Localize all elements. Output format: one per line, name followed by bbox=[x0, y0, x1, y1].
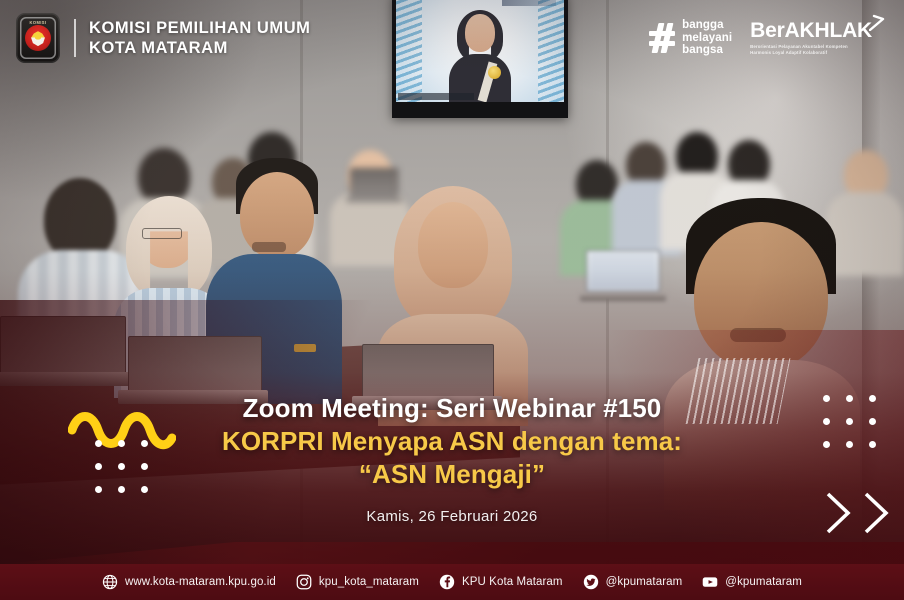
footer-item-instagram[interactable]: kpu_kota_mataram bbox=[296, 574, 419, 590]
header-title-line1: KOMISI PEMILIHAN UMUM bbox=[89, 18, 310, 38]
berakhlak-tagline: Berorientasi Pelayanan Akuntabel Kompete… bbox=[750, 44, 862, 56]
header-brand: KOMISI KOMISI PEMILIHAN UMUM KOTA MATARA… bbox=[16, 13, 310, 63]
berakhlak-wordmark: BerAKHLAK bbox=[750, 20, 872, 41]
swoosh-icon bbox=[869, 13, 885, 31]
hashtag-icon bbox=[649, 23, 675, 53]
logo-disc bbox=[25, 25, 51, 51]
footer-label-twitter: @kpumataram bbox=[606, 576, 683, 588]
title-line-2: KORPRI Menyapa ASN dengan tema: bbox=[90, 425, 814, 458]
twitter-icon bbox=[583, 574, 599, 590]
event-title-block: Zoom Meeting: Seri Webinar #150 KORPRI M… bbox=[0, 392, 904, 490]
footer-label-instagram: kpu_kota_mataram bbox=[319, 576, 419, 588]
facebook-icon bbox=[439, 574, 455, 590]
footer-label-youtube: @kpumataram bbox=[725, 576, 802, 588]
bangga-line3: bangsa bbox=[682, 44, 732, 57]
poster-header: KOMISI KOMISI PEMILIHAN UMUM KOTA MATARA… bbox=[0, 0, 904, 76]
youtube-icon bbox=[702, 574, 718, 590]
footer-item-website[interactable]: www.kota-mataram.kpu.go.id bbox=[102, 574, 276, 590]
footer-label-facebook: KPU Kota Mataram bbox=[462, 576, 563, 588]
footer-bar: www.kota-mataram.kpu.go.id kpu_kota_mata… bbox=[0, 564, 904, 600]
footer-label-website: www.kota-mataram.kpu.go.id bbox=[125, 576, 276, 588]
bangga-text: bangga melayani bangsa bbox=[682, 19, 732, 58]
footer-item-facebook[interactable]: KPU Kota Mataram bbox=[439, 574, 563, 590]
instagram-icon bbox=[296, 574, 312, 590]
header-logos: bangga melayani bangsa BerAKHLAK Berorie… bbox=[649, 19, 888, 58]
kpu-logo-icon: KOMISI bbox=[16, 13, 60, 63]
globe-icon bbox=[102, 574, 118, 590]
poster-canvas: KOMISI KOMISI PEMILIHAN UMUM KOTA MATARA… bbox=[0, 0, 904, 600]
title-line-3: “ASN Mengaji” bbox=[90, 458, 814, 491]
footer-item-twitter[interactable]: @kpumataram bbox=[583, 574, 683, 590]
bangga-line2: melayani bbox=[682, 32, 732, 45]
berakhlak-logo: BerAKHLAK Berorientasi Pelayanan Akuntab… bbox=[750, 20, 882, 56]
header-title-line2: KOTA MATARAM bbox=[89, 38, 310, 58]
bangga-melayani-bangsa-logo: bangga melayani bangsa bbox=[649, 19, 732, 58]
footer-item-youtube[interactable]: @kpumataram bbox=[702, 574, 802, 590]
bangga-line1: bangga bbox=[682, 19, 732, 32]
header-divider bbox=[74, 19, 76, 57]
title-line-1: Zoom Meeting: Seri Webinar #150 bbox=[90, 392, 814, 425]
event-date: Kamis, 26 Februari 2026 bbox=[0, 508, 904, 525]
page-title: KOMISI PEMILIHAN UMUM KOTA MATARAM bbox=[89, 18, 310, 58]
